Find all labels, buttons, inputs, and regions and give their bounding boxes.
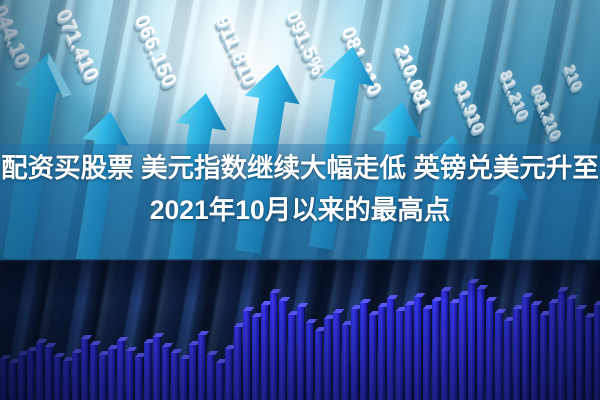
skyline-bar: [558, 290, 566, 400]
skyline-bar: [225, 348, 233, 400]
skyline-bar: [459, 294, 467, 400]
skyline-bar: [207, 354, 215, 400]
skyline-bar: [234, 326, 242, 400]
skyline-bar: [270, 292, 278, 400]
skyline-bar: [315, 330, 323, 400]
skyline-bar: [360, 302, 368, 400]
skyline-bar: [45, 346, 53, 400]
skyline-bar: [441, 290, 449, 400]
skyline-bar: [36, 342, 44, 400]
news-thumbnail-image: 044.10 071.410 066.150 911.810 091.5% 08…: [0, 0, 600, 400]
skyline-bar: [477, 288, 485, 400]
skyline-bar: [576, 308, 584, 400]
skyline-bar: [198, 334, 206, 400]
skyline-bar: [333, 312, 341, 400]
skyline-bar: [567, 298, 575, 400]
skyline-bar: [261, 304, 269, 400]
skyline-bar: [135, 356, 143, 400]
skyline-bar: [387, 298, 395, 400]
skyline-bar: [27, 350, 35, 400]
skyline-bar: [495, 312, 503, 400]
skyline-bar: [0, 358, 8, 400]
horizon-seam: [0, 259, 600, 261]
headline-line-2: 2021年10月以来的最高点: [0, 189, 600, 231]
skyline-bar: [144, 342, 152, 400]
skyline-bar: [450, 302, 458, 400]
skyline-bars: [0, 259, 600, 400]
skyline-bar: [18, 354, 26, 400]
skyline-bar: [153, 336, 161, 400]
skyline-bar: [513, 308, 521, 400]
skyline-bar: [369, 314, 377, 400]
headline-text: 配资买股票 美元指数继续大幅走低 英镑兑美元升至 2021年10月以来的最高点: [0, 147, 600, 231]
skyline-bar: [81, 338, 89, 400]
skyline-bar: [99, 354, 107, 400]
skyline-bar: [90, 344, 98, 400]
skyline-bar: [189, 344, 197, 400]
skyline-bar: [108, 348, 116, 400]
skyline-bar: [342, 324, 350, 400]
skyline-bar: [216, 362, 224, 400]
skyline-bar: [423, 308, 431, 400]
skyline-bar: [468, 282, 476, 400]
skyline-bar: [306, 322, 314, 400]
skyline-bar: [522, 296, 530, 400]
background-lower-barchart: [0, 259, 600, 400]
skyline-bar: [54, 356, 62, 400]
skyline-bar: [126, 350, 134, 400]
skyline-bar: [9, 362, 17, 400]
skyline-bar: [585, 316, 593, 400]
skyline-bar: [405, 304, 413, 400]
skyline-bar: [324, 318, 332, 400]
skyline-bar: [414, 296, 422, 400]
skyline-bar: [540, 314, 548, 400]
skyline-bar: [504, 320, 512, 400]
skyline-bar: [549, 302, 557, 400]
skyline-bar: [594, 304, 600, 400]
skyline-bar: [297, 306, 305, 400]
skyline-bar: [531, 304, 539, 400]
skyline-bar: [396, 310, 404, 400]
skyline-bar: [117, 340, 125, 400]
headline-line-1: 配资买股票 美元指数继续大幅走低 英镑兑美元升至: [0, 147, 600, 189]
skyline-bar: [288, 314, 296, 400]
skyline-bar: [279, 300, 287, 400]
skyline-bar: [63, 360, 71, 400]
skyline-bar: [72, 352, 80, 400]
skyline-bar: [486, 300, 494, 400]
skyline-bar: [162, 346, 170, 400]
skyline-bar: [378, 306, 386, 400]
skyline-bar: [243, 310, 251, 400]
skyline-bar: [351, 308, 359, 400]
skyline-bar: [252, 316, 260, 400]
skyline-bar: [171, 352, 179, 400]
skyline-bar: [180, 358, 188, 400]
skyline-bar: [432, 300, 440, 400]
